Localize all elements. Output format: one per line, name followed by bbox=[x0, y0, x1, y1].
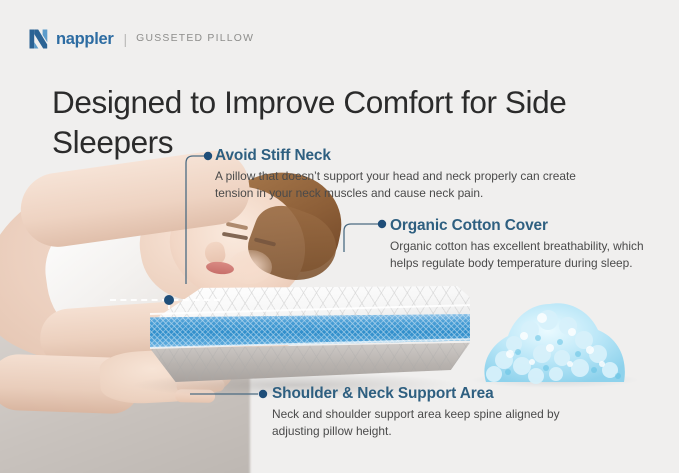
callout-organic-cotton-cover: Organic Cotton Cover Organic cotton has … bbox=[390, 217, 670, 272]
callout-3-title: Shoulder & Neck Support Area bbox=[272, 385, 602, 403]
shredded-memory-foam-pile-photo bbox=[478, 292, 630, 384]
nappler-n-logo-icon bbox=[28, 28, 49, 50]
brand-bar: nappler | GUSSETED PILLOW bbox=[28, 28, 254, 50]
pillow-quilting-pattern-bottom bbox=[150, 342, 470, 382]
brand-separator: | bbox=[124, 32, 128, 46]
product-name: GUSSETED PILLOW bbox=[136, 34, 254, 44]
callout-avoid-stiff-neck: Avoid Stiff Neck A pillow that doesn’t s… bbox=[215, 147, 605, 202]
model-cheek bbox=[228, 250, 272, 284]
callout-1-title: Avoid Stiff Neck bbox=[215, 147, 605, 165]
callout-shoulder-neck-support: Shoulder & Neck Support Area Neck and sh… bbox=[272, 385, 602, 440]
infographic-canvas: nappler | GUSSETED PILLOW Designed to Im… bbox=[0, 0, 679, 473]
brand-name: nappler bbox=[56, 31, 114, 48]
callout-2-body: Organic cotton has excellent breathabili… bbox=[390, 238, 670, 272]
callout-1-body: A pillow that doesn’t support your head … bbox=[215, 168, 605, 202]
callout-3-body: Neck and shoulder support area keep spin… bbox=[272, 406, 602, 440]
pillow-cover-bottom bbox=[150, 342, 470, 382]
callout-2-title: Organic Cotton Cover bbox=[390, 217, 670, 235]
spine-alignment-dashed-line bbox=[110, 299, 220, 301]
spine-alignment-stem bbox=[168, 299, 170, 309]
